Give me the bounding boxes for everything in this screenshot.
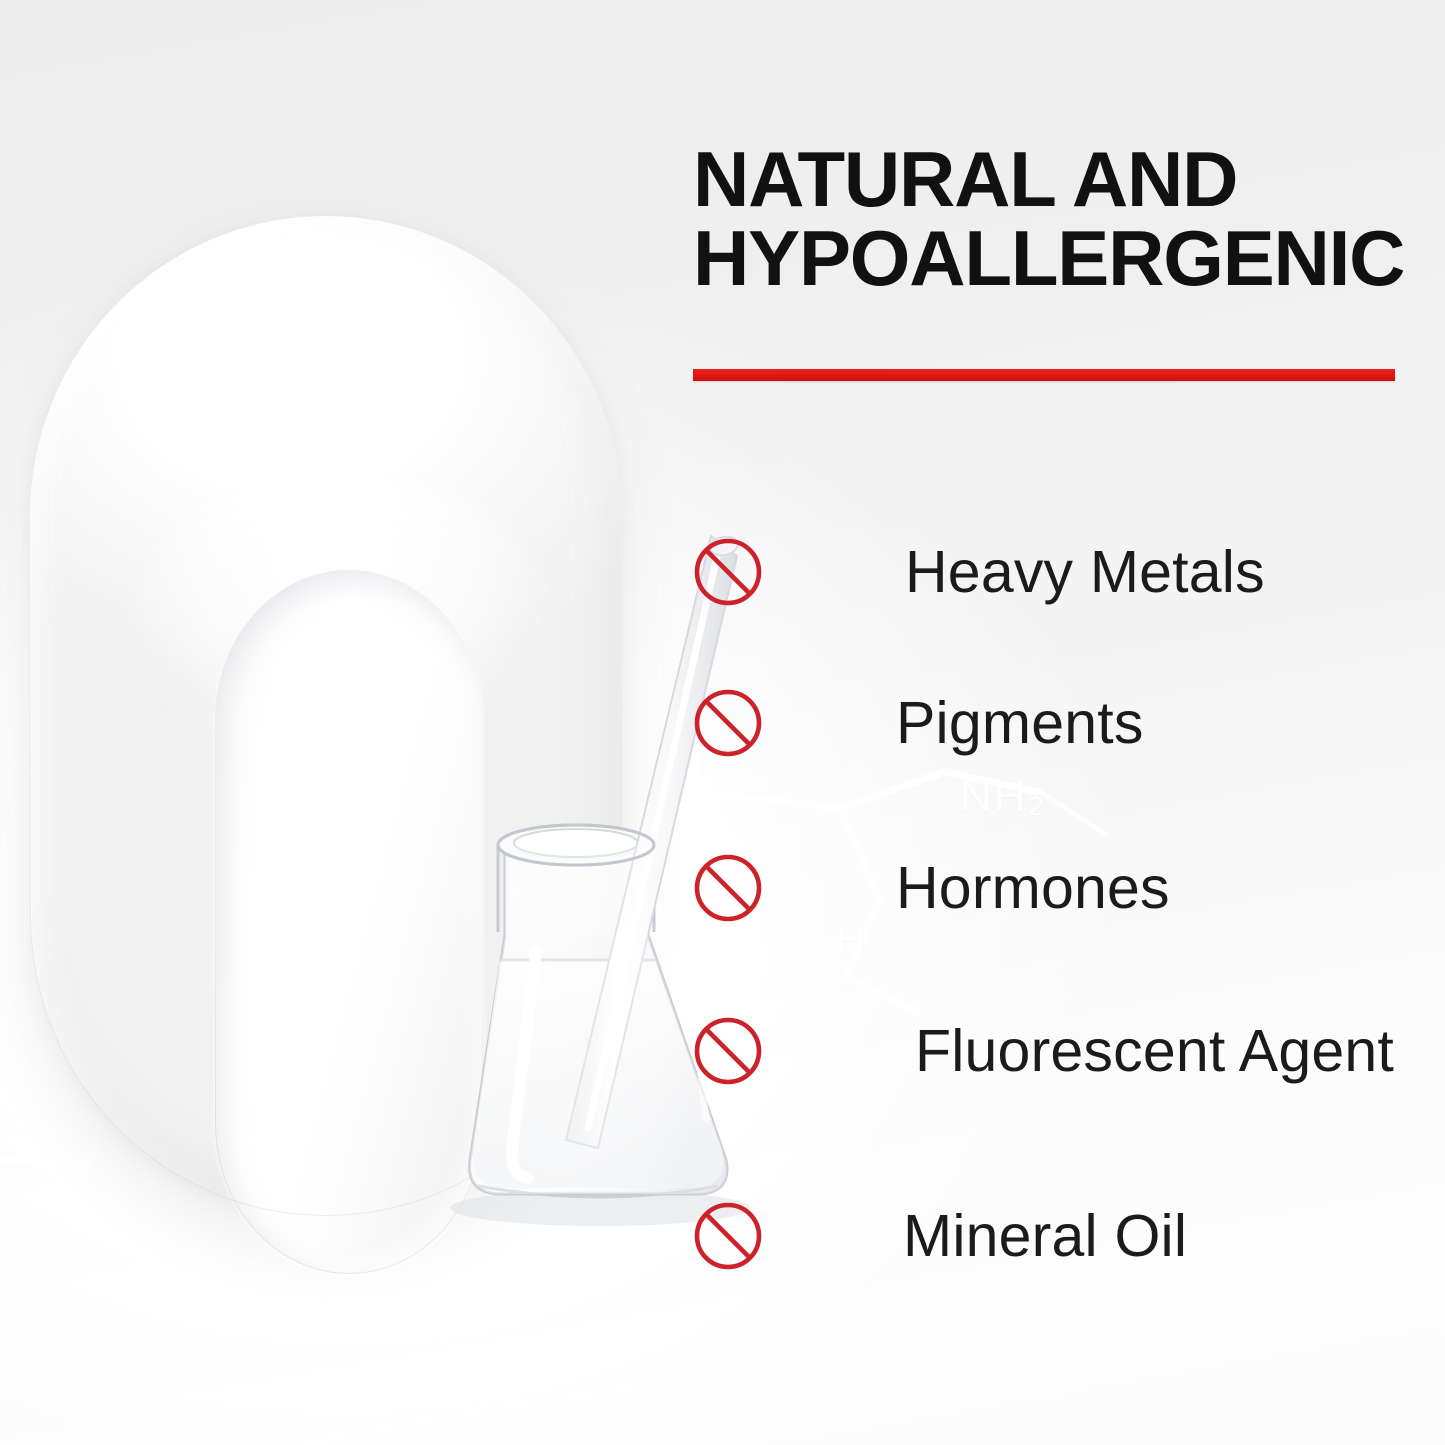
poster-canvas: NH₂ H xyxy=(0,0,1445,1445)
product-image xyxy=(0,0,700,1290)
list-item-label: Fluorescent Agent xyxy=(915,1020,1394,1082)
list-item: Hormones xyxy=(693,848,1170,928)
prohibition-glyph-icon xyxy=(693,853,763,923)
list-item-label: Mineral Oil xyxy=(903,1205,1187,1267)
list-item-label: Hormones xyxy=(896,857,1170,919)
prohibition-glyph-icon xyxy=(693,688,763,758)
prohibition-icon xyxy=(693,853,763,923)
prohibition-icon xyxy=(693,537,763,607)
oval-cutout xyxy=(215,570,483,1274)
list-item: Mineral Oil xyxy=(693,1196,1187,1276)
content-column: NATURAL AND HYPOALLERGENIC Heavy Metals xyxy=(693,0,1403,1445)
prohibition-glyph-icon xyxy=(693,537,763,607)
prohibition-icon xyxy=(693,1201,763,1271)
prohibition-glyph-icon xyxy=(693,1016,763,1086)
white-oval-pill-shape xyxy=(30,216,622,1216)
list-item: Fluorescent Agent xyxy=(693,1011,1394,1091)
list-item-label: Heavy Metals xyxy=(905,541,1265,603)
list-item-label: Pigments xyxy=(896,692,1144,754)
page-title: NATURAL AND HYPOALLERGENIC xyxy=(693,140,1408,298)
list-item: Heavy Metals xyxy=(693,532,1265,612)
prohibition-icon xyxy=(693,688,763,758)
red-rule xyxy=(693,369,1395,381)
prohibition-icon xyxy=(693,1016,763,1086)
product-highlight xyxy=(125,471,555,771)
list-item: Pigments xyxy=(693,683,1144,763)
prohibition-glyph-icon xyxy=(693,1201,763,1271)
